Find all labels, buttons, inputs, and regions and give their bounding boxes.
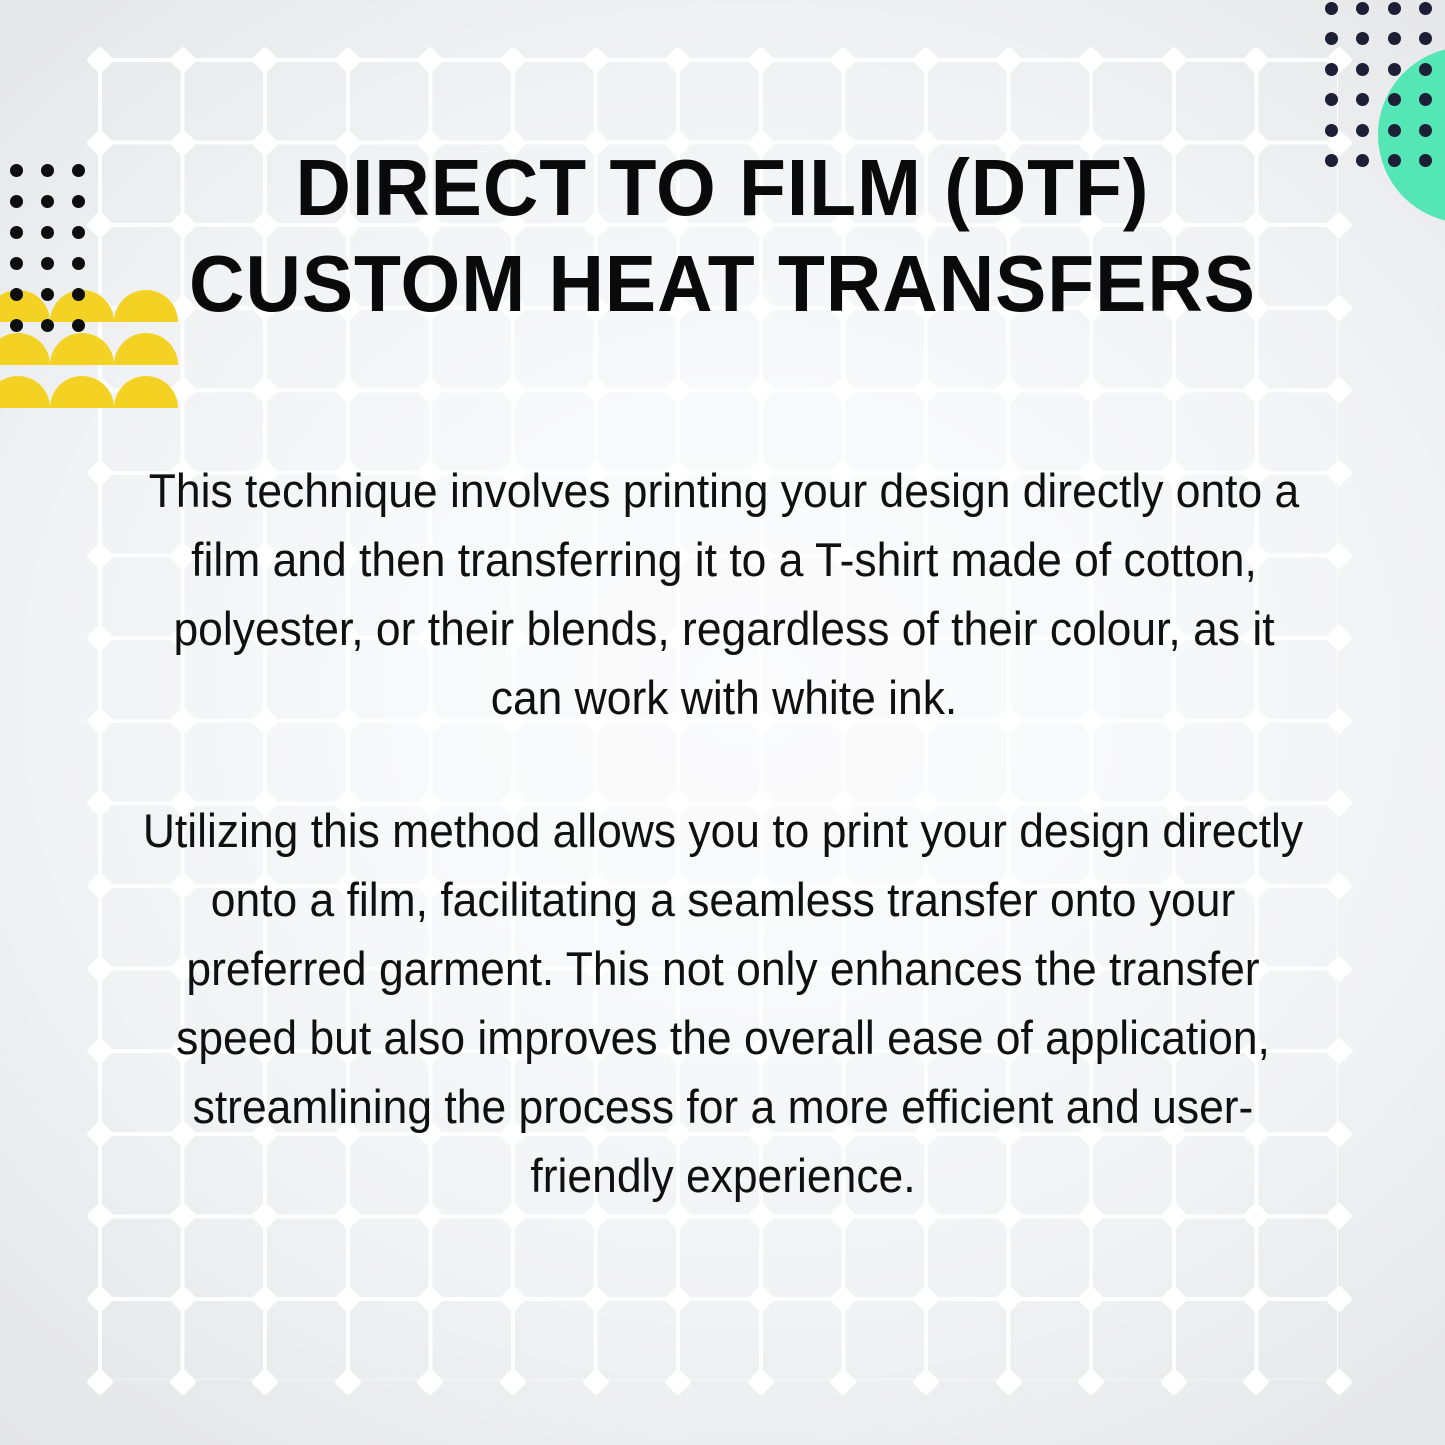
paragraph-one-line-4: can work with white ink.: [134, 663, 1313, 732]
paragraph-two-line-3: preferred garment. This not only enhance…: [127, 934, 1320, 1003]
paragraph-two-line-1: Utilizing this method allows you to prin…: [127, 796, 1320, 865]
poster-content: DIRECT TO FILM (DTF) CUSTOM HEAT TRANSFE…: [0, 0, 1445, 1445]
page-title: DIRECT TO FILM (DTF) CUSTOM HEAT TRANSFE…: [144, 140, 1301, 332]
paragraph-two-line-4: speed but also improves the overall ease…: [127, 1003, 1320, 1072]
paragraph-one: This technique involves printing your de…: [134, 456, 1313, 732]
paragraph-two: Utilizing this method allows you to prin…: [127, 796, 1320, 1210]
paragraph-two-line-6: friendly experience.: [127, 1141, 1320, 1210]
poster-canvas: DIRECT TO FILM (DTF) CUSTOM HEAT TRANSFE…: [0, 0, 1445, 1445]
paragraph-two-line-5: streamlining the process for a more effi…: [127, 1072, 1320, 1141]
title-line-1: DIRECT TO FILM (DTF): [144, 140, 1301, 236]
title-line-2: CUSTOM HEAT TRANSFERS: [144, 236, 1301, 332]
paragraph-one-line-3: polyester, or their blends, regardless o…: [134, 594, 1313, 663]
paragraph-two-line-2: onto a film, facilitating a seamless tra…: [127, 865, 1320, 934]
paragraph-one-line-2: film and then transferring it to a T-shi…: [134, 525, 1313, 594]
paragraph-one-line-1: This technique involves printing your de…: [134, 456, 1313, 525]
